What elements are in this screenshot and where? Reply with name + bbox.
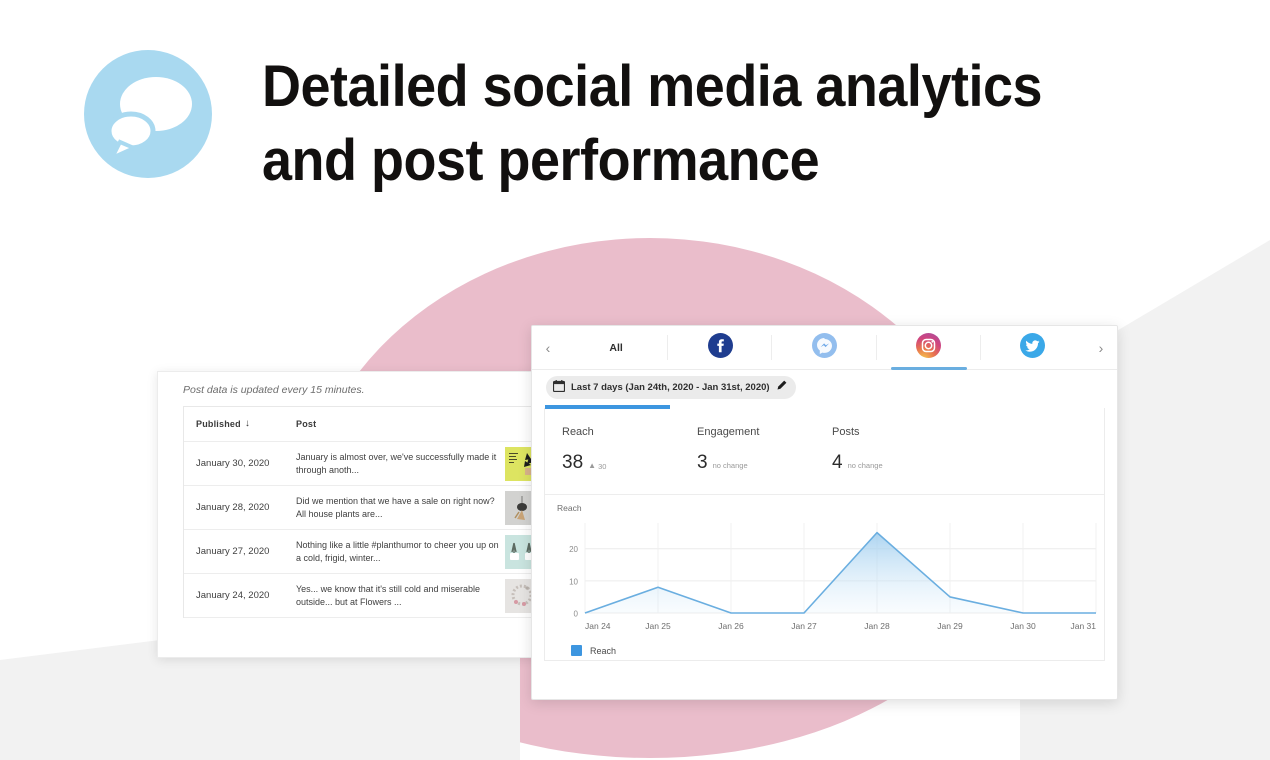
post-date: January 24, 2020 [184,590,290,601]
post-text: Nothing like a little #planthumor to che… [290,539,505,565]
arrow-down-icon[interactable]: ↓ [245,419,250,429]
page-title-line-1: Detailed social media analytics [262,50,1099,124]
svg-text:Jan 29: Jan 29 [937,621,963,631]
svg-text:Jan 24: Jan 24 [585,621,611,631]
analytics-panel: Reach 38 ▲ 30 Engagement 3 no change Pos… [544,408,1105,661]
metric-engagement-delta: no change [713,461,748,470]
column-header-published-label: Published [196,419,241,429]
tab-instagram[interactable] [877,326,981,369]
post-text: Did we mention that we have a sale on ri… [290,495,505,521]
metric-engagement-value-group: 3 no change [697,452,832,474]
post-date: January 30, 2020 [184,458,290,469]
reach-chart: Reach 01020Jan 24Jan 25Jan 26Jan 27Jan 2… [545,495,1104,660]
table-row[interactable]: January 28, 2020 Did we mention that we … [184,486,545,530]
metric-posts: Posts 4 no change [832,426,967,474]
metric-reach-value: 38 [562,452,583,474]
pencil-icon[interactable] [776,380,787,394]
post-date: January 27, 2020 [184,546,290,557]
calendar-icon [553,380,565,395]
svg-text:Jan 27: Jan 27 [791,621,817,631]
chart-title: Reach [557,503,1094,513]
metric-reach: Reach 38 ▲ 30 [562,426,697,474]
table-row[interactable]: January 30, 2020 January is almost over,… [184,442,545,486]
page-header: Detailed social media analytics and post… [0,0,1270,230]
chevron-right-icon[interactable]: › [1085,340,1117,356]
post-text: Yes... we know that it's still cold and … [290,583,505,609]
metrics-row: Reach 38 ▲ 30 Engagement 3 no change Pos… [545,408,1104,495]
metric-posts-delta: no change [848,461,883,470]
metric-reach-label: Reach [562,426,697,438]
legend-label-reach: Reach [590,646,616,656]
metric-reach-delta-value: 30 [598,462,606,471]
svg-text:Jan 25: Jan 25 [645,621,671,631]
column-header-published[interactable]: Published ↓ [184,419,290,429]
svg-text:Jan 28: Jan 28 [864,621,890,631]
tab-facebook[interactable] [668,326,772,369]
post-text: January is almost over, we've successful… [290,451,505,477]
table-row[interactable]: January 24, 2020 Yes... we know that it'… [184,574,545,618]
tab-messenger[interactable] [772,326,876,369]
instagram-icon [916,333,941,363]
svg-text:10: 10 [569,577,578,586]
post-date: January 28, 2020 [184,502,290,513]
posts-card: Post data is updated every 15 minutes. P… [157,371,557,658]
table-row[interactable]: January 27, 2020 Nothing like a little #… [184,530,545,574]
posts-table: Published ↓ Post January 30, 2020 Januar… [183,406,546,618]
reach-area-chart: 01020Jan 24Jan 25Jan 26Jan 27Jan 28Jan 2… [557,515,1102,635]
twitter-icon [1020,333,1045,363]
metric-posts-label: Posts [832,426,967,438]
svg-text:20: 20 [569,545,578,554]
date-range-picker[interactable]: Last 7 days (Jan 24th, 2020 - Jan 31st, … [546,376,796,399]
channel-tabbar: ‹ All [532,326,1117,370]
caret-up-icon: ▲ [588,462,596,470]
svg-text:Jan 30: Jan 30 [1010,621,1036,631]
messenger-icon [812,333,837,363]
metric-engagement-value: 3 [697,452,708,474]
chevron-left-icon[interactable]: ‹ [532,340,564,356]
metric-posts-value: 4 [832,452,843,474]
facebook-icon [708,333,733,363]
metric-posts-value-group: 4 no change [832,452,967,474]
posts-update-note: Post data is updated every 15 minutes. [158,372,556,406]
chart-legend: Reach [557,635,1094,656]
tab-all[interactable]: All [564,326,668,369]
page-title-line-2: and post performance [262,124,1099,198]
analytics-toolbar: Last 7 days (Jan 24th, 2020 - Jan 31st, … [532,370,1117,404]
metric-engagement: Engagement 3 no change [697,426,832,474]
analytics-card: ‹ All [531,325,1118,700]
page-title: Detailed social media analytics and post… [262,50,1099,198]
metric-reach-delta: ▲ 30 [588,462,606,471]
speech-bubbles-icon [84,50,212,178]
posts-table-header: Published ↓ Post [184,407,545,442]
metric-reach-value-group: 38 ▲ 30 [562,452,697,474]
date-range-label: Last 7 days (Jan 24th, 2020 - Jan 31st, … [571,382,770,393]
legend-swatch-reach [571,645,582,656]
svg-text:0: 0 [574,610,579,619]
column-header-post[interactable]: Post [290,419,316,429]
tab-twitter[interactable] [981,326,1085,369]
metric-engagement-label: Engagement [697,426,832,438]
svg-text:Jan 26: Jan 26 [718,621,744,631]
svg-text:Jan 31: Jan 31 [1070,621,1096,631]
tab-all-label: All [609,342,622,354]
active-section-indicator [545,405,670,409]
